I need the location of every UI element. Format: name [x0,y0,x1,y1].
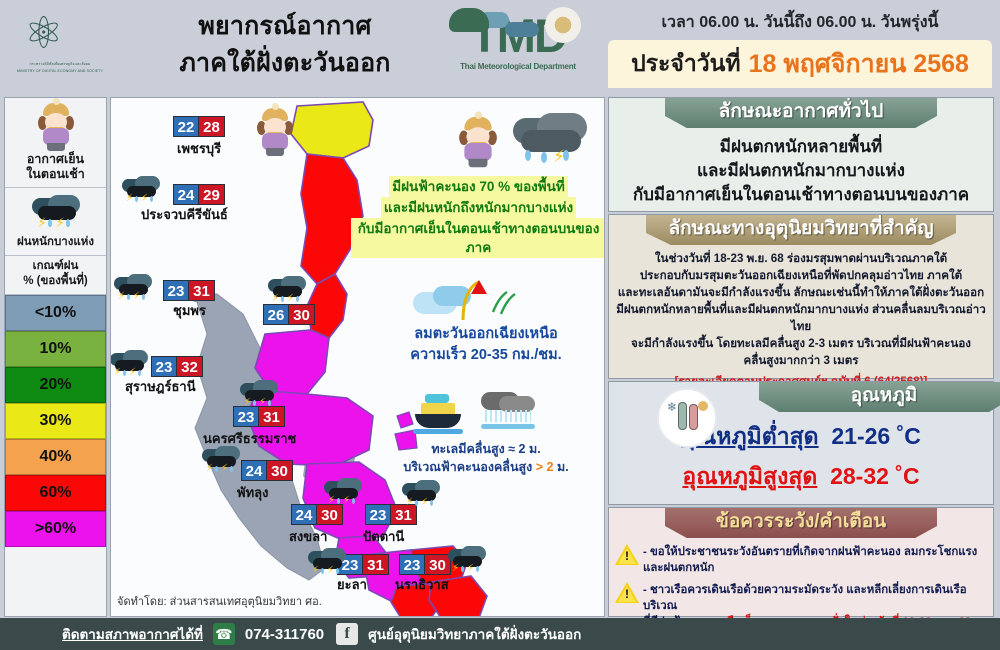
province-label: นราธิวาส [395,574,449,595]
legend-scale-title-2: % (ของพื้นที่) [7,274,104,289]
general-line2: และมีฝนตกหนักมากบางแห่ง [609,159,993,183]
rain-note-line2: และมีฝนหนักถึงหนักมากบางแห่ง [381,197,576,218]
province-label: นครศรีธรรมราช [203,428,296,449]
header: ⚛ กระทรวงดิจิทัลเพื่อเศรษฐกิจและสังคม MI… [0,0,1000,96]
cold-girl-icon [34,103,78,151]
sun-icon-small [698,401,708,411]
temperature-badge: 2330 [399,554,451,575]
ministry-logo-caption-en: MINISTRY OF DIGITAL ECONOMY AND SOCIETY [14,69,106,74]
wave-height-line2: บริเวณฟ้าคะนองคลื่นสูง > 2 ม. [361,458,605,476]
province-label: พัทลุง [237,482,268,503]
min-temp-value: 26 [263,304,289,325]
province-label: ปัตตานี [363,526,404,547]
warning-text: - ขอให้ประชาชนระวังอันตรายที่เกิดจากฝนฟ้… [643,544,977,576]
legend-swatch-4: 40% [5,439,106,475]
general-line3: กับมีอากาศเย็นในตอนเช้าทางตอนบนของภาค [609,183,993,207]
wind-speed: ความเร็ว 20-35 กม./ชม. [361,345,605,366]
meteorological-body: ในช่วงวันที่ 18-23 พ.ย. 68 ร่องมรสุมพาดผ… [615,250,987,390]
legend-swatch-5: 60% [5,475,106,511]
legend-heavy-rain: ⚡ ⚡ ฝนหนักบางแห่ง [5,188,106,256]
temperature-badge: 2331 [163,280,215,301]
thunderstorm-icon-map: ⚡⚡ [113,274,153,304]
facebook-icon[interactable]: f [336,623,358,645]
warning-text-line1: - ชาวเรือควรเดินเรือด้วยความระมัดระวัง แ… [643,582,985,614]
max-temp-value: 30 [289,304,315,325]
rain-percentage-note: มีฝนฟ้าคะนอง 70 % ของพื้นที่ และมีฝนหนัก… [351,176,605,258]
tmd-logo: TMD Thai Meteorological Department [443,8,593,88]
meteo-line4: มีฝนตกหนักหลายพื้นที่และมีฝนตกหนักมากบาง… [615,301,987,335]
meteo-line2: ประกอบกับมรสุมตะวันออกเฉียงเหนือที่พัดปก… [615,267,987,284]
time-range-label: เวลา 06.00 น. วันนี้ถึง 06.00 น. วันพรุ่… [610,10,990,35]
legend-swatch-6: >60% [5,511,106,547]
min-temp-value: 24 [173,184,199,205]
max-temperature-row: อุณหภูมิสูงสุด 28-32 ˚C [609,460,993,492]
phone-icon: ☎ [213,623,235,645]
thunderstorm-icon-map: ⚡⚡ [201,446,241,476]
min-temp-value: 24 [241,460,267,481]
legend-panel: อากาศเย็น ในตอนเช้า ⚡ ⚡ ฝนหนักบางแห่ง เก… [4,97,107,617]
min-temp-value: 23 [163,280,189,301]
cold-girl-icon-map-north [253,108,297,156]
max-temperature-label: อุณหภูมิสูงสุด [682,463,817,489]
warning-panel: ข้อควรระวัง/คำเตือน !- ขอให้ประชาชนระวัง… [608,507,994,617]
thunderstorm-icon: ⚡ ⚡ [30,194,82,234]
cold-girl-icon-center [455,117,501,167]
warning-text-line2: และฝนตกหนัก [643,560,977,576]
ministry-logo: ⚛ กระทรวงดิจิทัลเพื่อเศรษฐกิจและสังคม MI… [14,12,106,86]
rain-over-sea-icon [477,392,539,438]
rain-note-line1: มีฝนฟ้าคะนอง 70 % ของพื้นที่ [389,176,568,197]
max-temp-value: 30 [267,460,293,481]
boat-icon [411,394,471,438]
tmd-logo-art: TMD [443,8,593,68]
general-weather-body: มีฝนตกหนักหลายพื้นที่ และมีฝนตกหนักมากบา… [609,135,993,207]
page-title-line2: ภาคใต้ฝั่งตะวันออก [120,45,450,82]
thunderstorm-icon-map: ⚡⚡ [323,478,363,508]
legend-scale-title: เกณฑ์ฝน % (ของพื้นที่) [5,256,106,295]
page-title-line1: พยากรณ์อากาศ [120,8,450,45]
weather-forecast-infographic: ⚛ กระทรวงดิจิทัลเพื่อเศรษฐกิจและสังคม MI… [0,0,1000,650]
map-panel: ⚡ 22282429233126302332233124302430233123… [110,97,605,617]
legend-cold-label-2: ในตอนเช้า [7,167,104,182]
meteorological-panel: ลักษณะทางอุตุนิยมวิทยาที่สำคัญ ในช่วงวัน… [608,214,994,379]
thermometer-icon: ❄ [657,388,717,448]
min-temp-value: 23 [399,554,425,575]
snowflake-icon: ❄ [667,400,677,414]
legend-swatch-list: <10%10%20%30%40%60%>60% [5,295,106,547]
legend-swatch-1: 10% [5,331,106,367]
min-temp-value: 23 [365,504,391,525]
min-temp-value: 24 [291,504,317,525]
province-label: เพชรบุรี [177,138,221,159]
temperature-banner: อุณหภูมิ [759,382,1000,412]
wind-icon [407,276,527,328]
max-temp-value: 31 [189,280,215,301]
footer-follow-label: ติดตามสภาพอากาศได้ที่ [62,623,203,645]
meteo-line5: จะมีกำลังแรงขึ้น โดยทะเลมีคลื่นสูง 2-3 เ… [615,335,987,352]
legend-scale-title-1: เกณฑ์ฝน [7,259,104,274]
thunderstorm-icon-center: ⚡ [511,110,589,168]
general-line1: มีฝนตกหนักหลายพื้นที่ [609,135,993,159]
footer-bar: ติดตามสภาพอากาศได้ที่ ☎ 074-311760 f ศูน… [0,618,1000,650]
temperature-panel: ❄ อุณหภูมิ อุณหภูมิต่ำสุด 21-26 ˚C อุณหภ… [608,381,994,505]
max-temp-value: 28 [199,116,225,137]
max-temperature-value: 28-32 ˚C [830,463,919,489]
temperature-badge: 2228 [173,116,225,137]
temperature-badge: 2332 [151,356,203,377]
date-badge: ประจำวันที่ 18 พฤศจิกายน 2568 [608,40,992,88]
province-label: ชุมพร [173,300,206,321]
temperature-badge: 2430 [241,460,293,481]
legend-cold-label-1: อากาศเย็น [7,152,104,167]
general-weather-banner: ลักษณะอากาศทั่วไป [665,98,937,128]
max-temp-value: 31 [363,554,389,575]
general-weather-panel: ลักษณะอากาศทั่วไป มีฝนตกหนักหลายพื้นที่ … [608,97,994,212]
wave-height-line2-c: ม. [557,460,569,474]
rain-note-line3: กับมีอากาศเย็นในตอนเช้าทางตอนบนของภาค [351,218,605,258]
cloud-icon [505,22,539,37]
warning-triangle-icon: ! [615,544,639,566]
warning-text-line1: - ขอให้ประชาชนระวังอันตรายที่เกิดจากฝนฟ้… [643,544,977,560]
legend-swatch-0: <10% [5,295,106,331]
wind-info: ลมตะวันออกเฉียงเหนือ ความเร็ว 20-35 กม./… [361,324,605,366]
tree-icon [449,8,489,32]
meteo-line6: คลื่นสูงมากกว่า 3 เมตร [615,352,987,369]
date-prefix: ประจำวันที่ [631,46,741,82]
province-label: สงขลา [289,526,327,547]
warning-item: !- ขอให้ประชาชนระวังอันตรายที่เกิดจากฝนฟ… [615,544,985,576]
footer-phone[interactable]: 074-311760 [245,626,324,643]
province-label: ยะลา [337,574,367,595]
meteo-line1: ในช่วงวันที่ 18-23 พ.ย. 68 ร่องมรสุมพาดผ… [615,250,987,267]
thunderstorm-icon-map: ⚡⚡ [267,276,307,306]
sun-icon [545,7,581,43]
map-credit: จัดทำโดย: ส่วนสารสนเทศอุตุนิยมวิทยา ศอ. [117,592,322,610]
thunderstorm-icon-map: ⚡⚡ [121,176,161,206]
min-temp-value: 23 [151,356,177,377]
legend-rain-label: ฝนหนักบางแห่ง [7,235,104,250]
footer-facebook-page[interactable]: ศูนย์อุตุนิยมวิทยาภาคใต้ฝั่งตะวันออก [368,623,581,645]
wave-height-value: > 2 [536,460,554,474]
thunderstorm-icon-map: ⚡⚡ [401,480,441,510]
thunderstorm-icon-map: ⚡⚡ [239,380,279,410]
ministry-logo-mark: ⚛ [24,12,96,60]
max-temp-value: 32 [177,356,203,377]
wave-info: ทะเลมีคลื่นสูง ≈ 2 ม. บริเวณฟ้าคะนองคลื่… [361,440,605,476]
date-value: 18 พฤศจิกายน 2568 [749,44,969,84]
legend-swatch-2: 20% [5,367,106,403]
temperature-badge: 2429 [173,184,225,205]
min-temperature-value: 21-26 ˚C [831,423,920,449]
max-temp-value: 29 [199,184,225,205]
warning-triangle-icon: ! [615,582,639,604]
legend-swatch-3: 30% [5,403,106,439]
temperature-badge: 2630 [263,304,315,325]
ministry-logo-glyph: ⚛ [24,12,63,56]
wave-height-line1: ทะเลมีคลื่นสูง ≈ 2 ม. [361,440,605,458]
wave-height-line2-a: บริเวณฟ้าคะนองคลื่นสูง [403,460,532,474]
thunderstorm-icon-map: ⚡⚡ [447,546,487,576]
meteorological-banner: ลักษณะทางอุตุนิยมวิทยาที่สำคัญ [646,215,956,245]
meteo-line3: และทะเลอันดามันจะมีกำลังแรงขึ้น ลักษณะเช… [615,284,987,301]
legend-cold-weather: อากาศเย็น ในตอนเช้า [5,98,106,188]
ministry-logo-caption-th: กระทรวงดิจิทัลเพื่อเศรษฐกิจและสังคม [14,62,106,67]
min-temp-value: 22 [173,116,199,137]
page-title: พยากรณ์อากาศ ภาคใต้ฝั่งตะวันออก [120,8,450,82]
province-label: สุราษฎร์ธานี [125,376,196,397]
province-label: ประจวบคีรีขันธ์ [141,204,228,225]
warning-banner: ข้อควรระวัง/คำเตือน [665,508,937,538]
